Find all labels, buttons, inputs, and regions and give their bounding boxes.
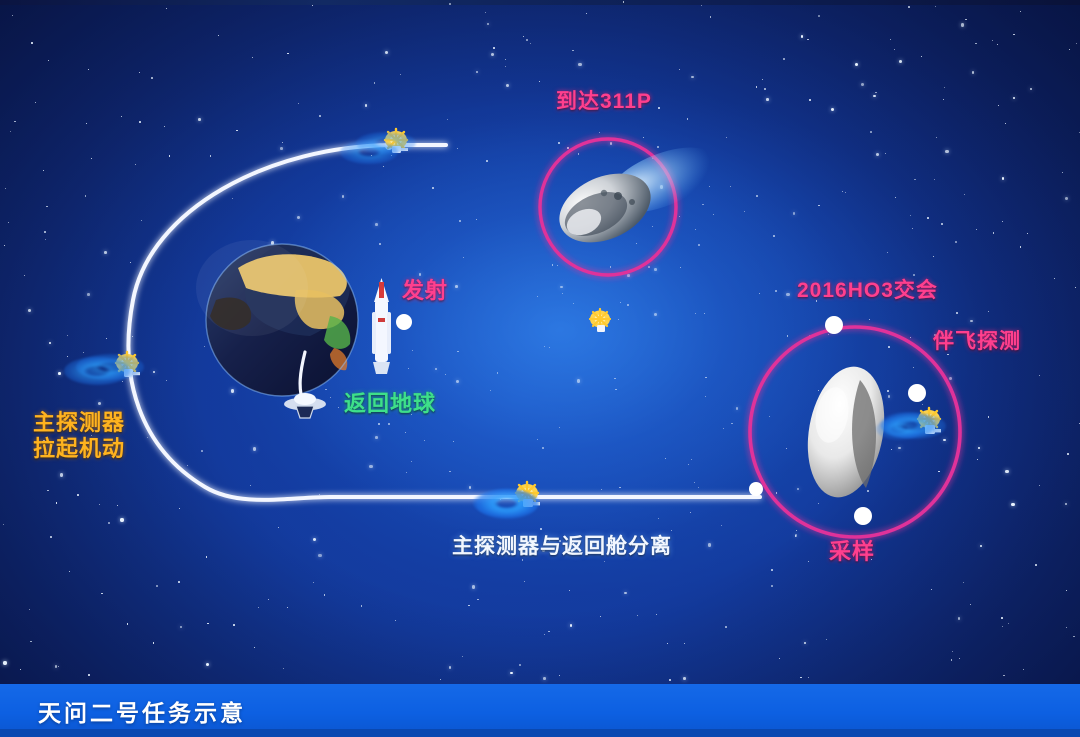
halo-disc-top bbox=[340, 140, 398, 164]
label-probe-pullup: 主探测器 拉起机动 bbox=[33, 410, 125, 462]
caption-title: 天问二号任务示意 bbox=[38, 694, 246, 728]
label-sampling: 采样 bbox=[829, 539, 875, 565]
spacecraft-center bbox=[582, 305, 618, 339]
trajectory-layer bbox=[0, 0, 1080, 737]
label-accompany-survey: 伴飞探测 bbox=[933, 330, 1021, 355]
label-return-to-earth: 返回地球 bbox=[344, 391, 436, 417]
launch-rocket bbox=[372, 278, 391, 374]
earth-globe bbox=[196, 240, 358, 396]
return-capsule bbox=[284, 393, 326, 418]
comet-311p bbox=[549, 134, 726, 256]
halo-disc-left bbox=[64, 357, 130, 385]
halo-disc-ho3-left bbox=[876, 418, 922, 440]
label-arrive-311p: 到达311P bbox=[556, 90, 652, 115]
halo-disc-bottom bbox=[476, 489, 538, 519]
mission-diagram: 发射到达311P2016HO3交会伴飞探测采样主探测器 拉起机动返回地球主探测器… bbox=[0, 0, 1080, 737]
label-launch: 发射 bbox=[402, 278, 448, 304]
label-capsule-separation: 主探测器与返回舱分离 bbox=[452, 535, 672, 560]
caption-bar-underline bbox=[0, 729, 1080, 737]
label-rendezvous-2016ho3: 2016HO3交会 bbox=[797, 279, 938, 304]
